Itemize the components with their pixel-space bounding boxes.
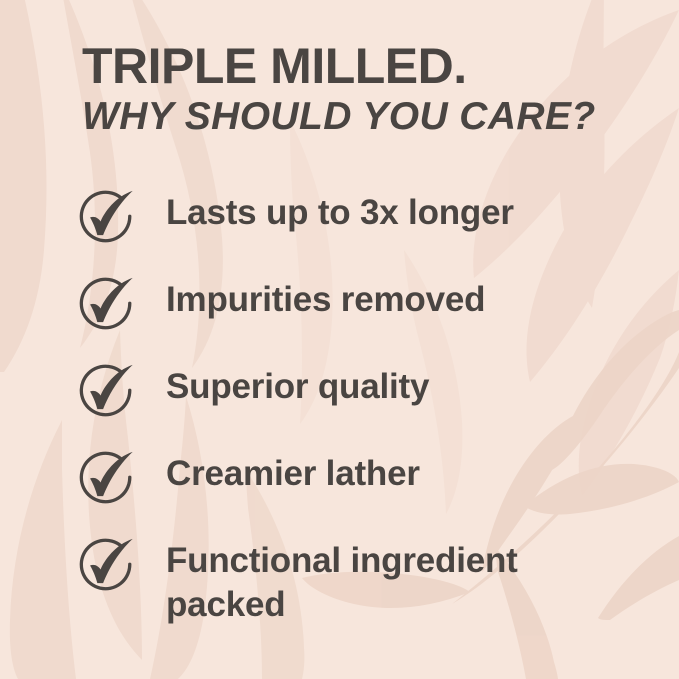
list-item: Functional ingredient packed (76, 534, 656, 621)
list-item: Impurities removed (76, 273, 656, 360)
triple-milled-benefits-graphic: TRIPLE MILLED. WHY SHOULD YOU CARE? Last… (0, 0, 679, 679)
heading-block: TRIPLE MILLED. WHY SHOULD YOU CARE? (82, 40, 642, 139)
list-item: Lasts up to 3x longer (76, 186, 656, 273)
check-circle-icon (76, 449, 138, 511)
page-title: TRIPLE MILLED. (82, 40, 642, 93)
check-circle-icon (76, 536, 138, 598)
check-circle-icon (76, 362, 138, 424)
list-item-label: Lasts up to 3x longer (166, 186, 514, 235)
list-item-label: Superior quality (166, 360, 429, 409)
list-item-label: Functional ingredient packed (166, 534, 596, 627)
list-item: Superior quality (76, 360, 656, 447)
check-circle-icon (76, 275, 138, 337)
list-item-label: Creamier lather (166, 447, 420, 496)
list-item: Creamier lather (76, 447, 656, 534)
page-subtitle: WHY SHOULD YOU CARE? (82, 96, 642, 139)
check-circle-icon (76, 188, 138, 250)
benefit-list: Lasts up to 3x longer Impurities removed… (76, 186, 656, 621)
list-item-label: Impurities removed (166, 273, 485, 322)
